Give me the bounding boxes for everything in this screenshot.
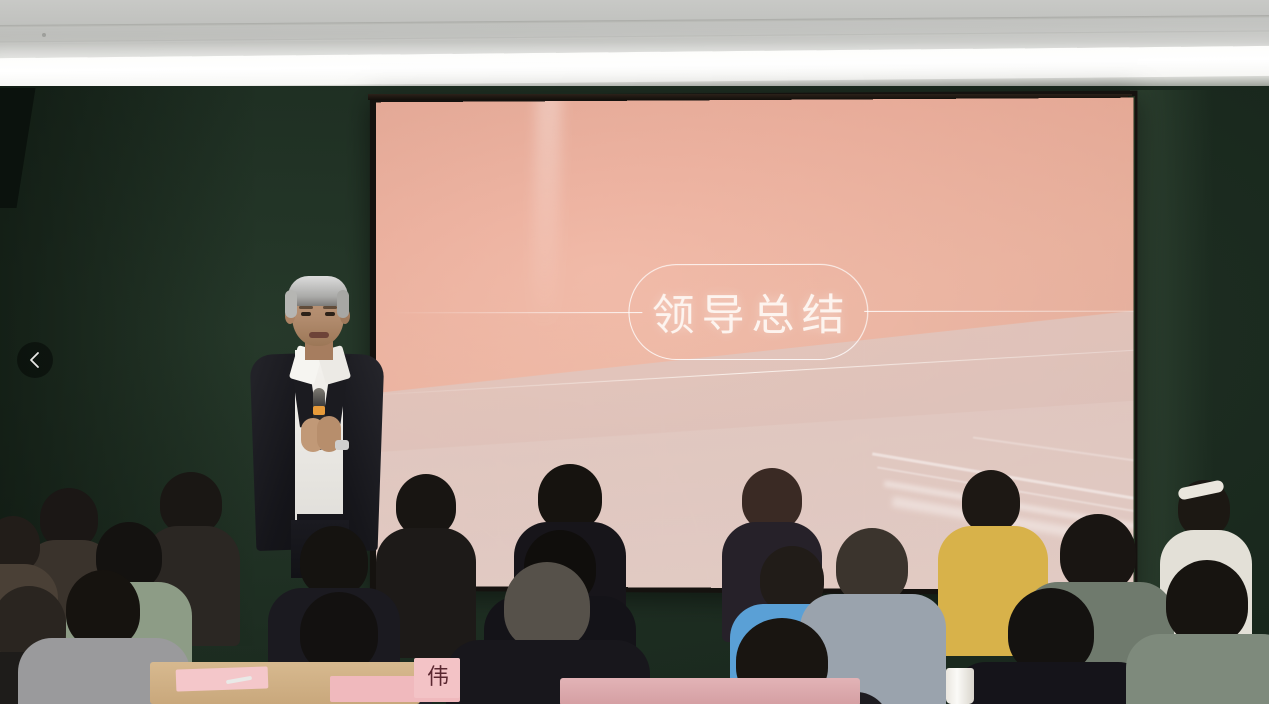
photo-viewer: 领导总结 bbox=[0, 0, 1269, 704]
chevron-left-icon bbox=[28, 351, 42, 369]
slide-title-line-right bbox=[864, 311, 1133, 312]
nameplate-text: 伟 bbox=[418, 662, 458, 692]
speaker-eye-right bbox=[325, 312, 335, 316]
desk-paper bbox=[176, 666, 269, 691]
speaker-eye-left bbox=[301, 312, 311, 316]
speaker-hair-side-left bbox=[285, 290, 297, 318]
paper-cup bbox=[946, 668, 974, 704]
speaker-eyebrow-right bbox=[323, 306, 337, 309]
slide-title-pill: 领导总结 bbox=[628, 264, 868, 360]
slide-title-line-left bbox=[388, 312, 643, 313]
front-desk-right bbox=[560, 678, 860, 704]
speaker-eyebrow-left bbox=[299, 306, 313, 309]
audience: 伟 bbox=[0, 430, 1269, 704]
slide-title: 领导总结 bbox=[645, 281, 852, 343]
speaker-hair-side-right bbox=[337, 290, 349, 318]
prev-image-button[interactable] bbox=[17, 342, 53, 378]
microphone-band bbox=[313, 406, 325, 415]
ceiling-fixture-screw bbox=[42, 33, 46, 37]
speaker-mouth bbox=[309, 332, 329, 338]
